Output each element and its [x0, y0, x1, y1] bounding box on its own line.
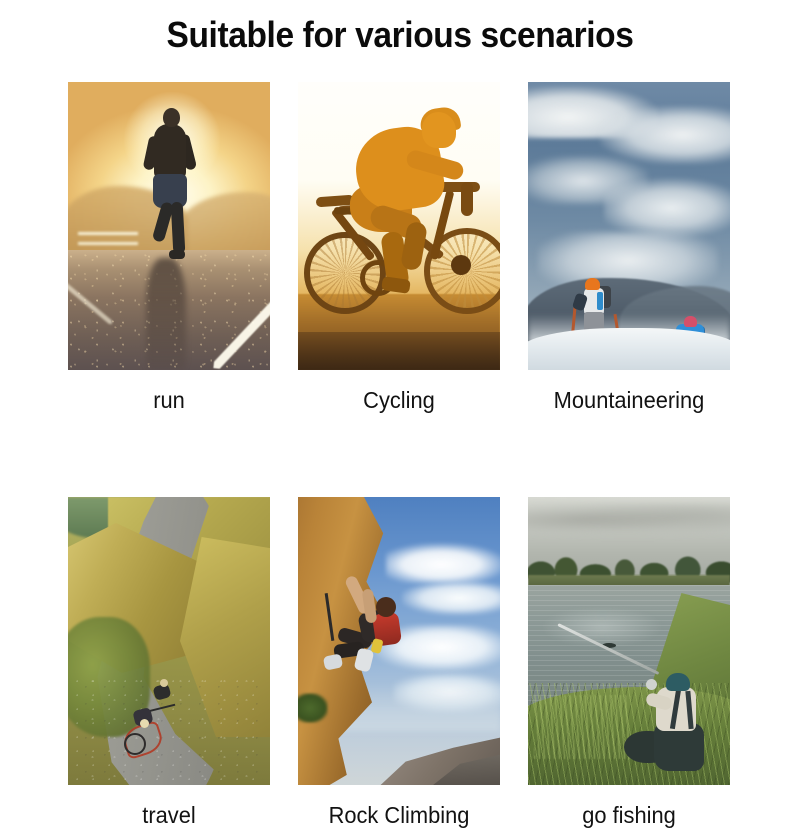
runner-shoe [169, 250, 185, 259]
scenario-caption-travel: travel [73, 802, 265, 829]
lane-line-left [68, 274, 112, 324]
fishing-reel [646, 679, 657, 690]
runner-head [163, 108, 180, 127]
scenario-cell-travel[interactable]: travel [68, 497, 270, 829]
runner-shadow [146, 258, 186, 370]
cyclist-head [422, 112, 456, 148]
scenario-cell-go-fishing[interactable]: go fishing [528, 497, 730, 829]
scenario-photo-rock-climbing[interactable] [298, 497, 500, 785]
second-cyclist-head [140, 719, 149, 728]
page-title: Suitable for various scenarios [28, 14, 772, 56]
lead-cyclist-head [160, 679, 168, 687]
scenario-caption-mountaineering: Mountaineering [533, 387, 725, 414]
scenario-cell-cycling[interactable]: Cycling [298, 82, 500, 414]
scenario-photo-cycling[interactable] [298, 82, 500, 370]
scenario-grid: run [68, 82, 730, 829]
cloud-band [528, 503, 730, 537]
cloud-upper-mid [402, 581, 500, 615]
bicycle-front-hub [451, 255, 471, 275]
product-feature-page: Suitable for various scenarios [0, 0, 800, 800]
scenario-caption-rock-climbing: Rock Climbing [303, 802, 495, 829]
scenario-cell-mountaineering[interactable]: Mountaineering [528, 82, 730, 414]
scenario-caption-go-fishing: go fishing [533, 802, 725, 829]
grass-tuft [534, 695, 630, 759]
scenario-photo-go-fishing[interactable] [528, 497, 730, 785]
cloud-top [386, 543, 500, 583]
bicycle-drop-bar [461, 182, 473, 216]
scenario-photo-mountaineering[interactable] [528, 82, 730, 370]
climber-head [376, 597, 396, 617]
snow-field [528, 328, 730, 370]
ground-shadow [298, 332, 500, 370]
scenario-caption-run: run [73, 387, 265, 414]
angler-beanie [666, 673, 690, 691]
runner-torso [154, 124, 186, 180]
cliff-shrub [298, 693, 328, 723]
scenario-cell-rock-climbing[interactable]: Rock Climbing [298, 497, 500, 829]
lane-line-right [213, 277, 270, 370]
climber-jacket-stripe [597, 292, 603, 310]
second-climber-hat [684, 316, 697, 327]
scenario-cell-run[interactable]: run [68, 82, 270, 414]
climber-helmet [585, 278, 600, 290]
scenario-photo-run[interactable] [68, 82, 270, 370]
scenario-caption-cycling: Cycling [303, 387, 495, 414]
scenario-photo-travel[interactable] [68, 497, 270, 785]
second-bicycle-wheel [124, 733, 146, 755]
cloud-mid-right [604, 178, 730, 238]
